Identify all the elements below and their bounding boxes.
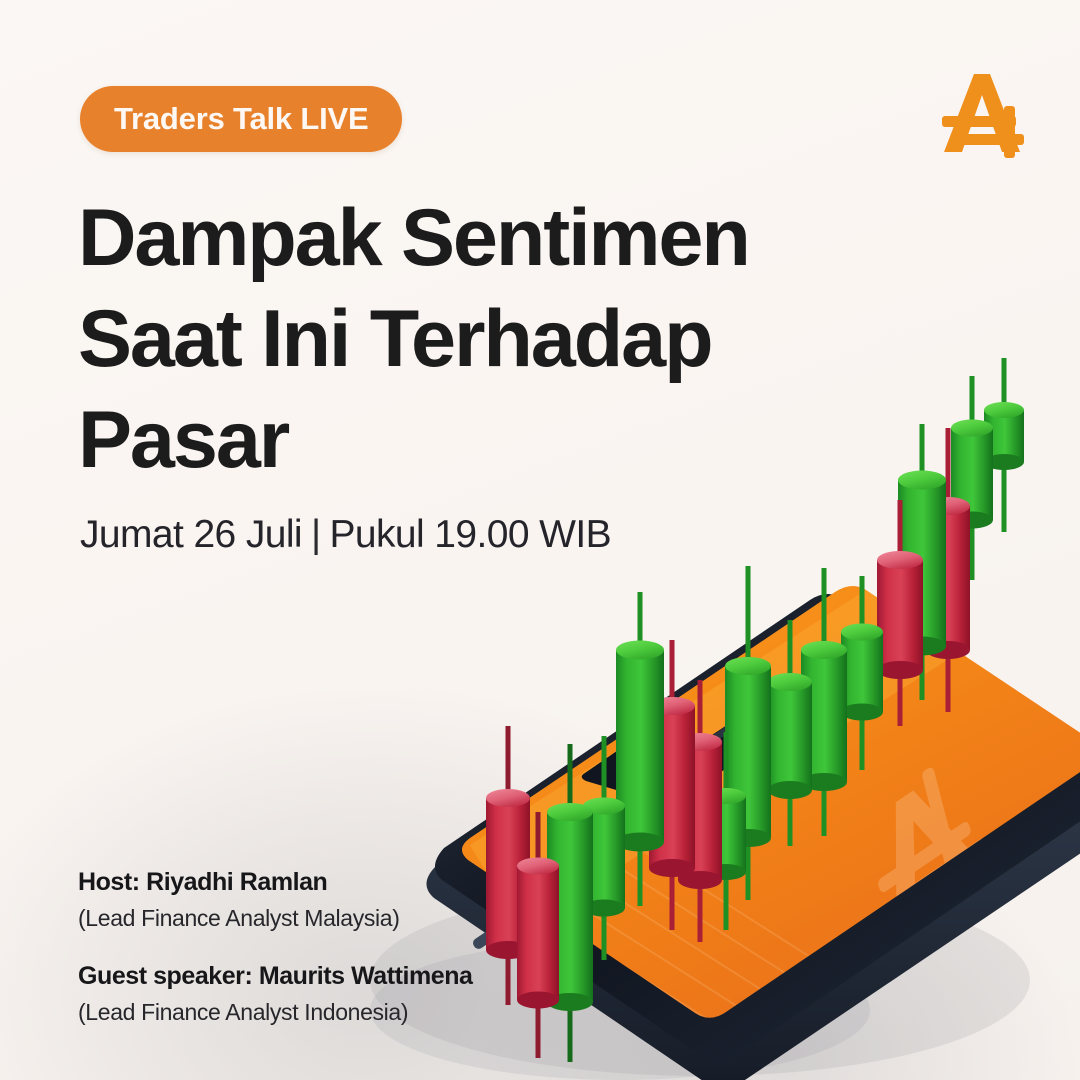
host-role: (Lead Finance Analyst Malaysia) [78, 902, 473, 935]
guest-role: (Lead Finance Analyst Indonesia) [78, 996, 473, 1029]
candle-bullish [547, 744, 593, 1062]
headline-line-3: Pasar [78, 390, 798, 491]
credit-guest: Guest speaker: Maurits Wattimena (Lead F… [78, 960, 473, 1028]
candle-bearish [517, 812, 559, 1058]
schedule-line: Jumat 26 Juli|Pukul 19.00 WIB [80, 513, 611, 557]
smartphone-device [426, 586, 1080, 1080]
live-badge: Traders Talk LIVE [80, 86, 402, 152]
speaker-credits: Host: Riyadhi Ramlan (Lead Finance Analy… [78, 866, 473, 1028]
candle-bullish [583, 736, 625, 960]
candle-bullish [725, 566, 771, 900]
live-badge-label: Traders Talk LIVE [114, 101, 368, 137]
candle-bullish [984, 358, 1024, 532]
candle-bullish [898, 424, 946, 700]
promo-poster: Traders Talk LIVE Dampak Sentimen Saat I… [0, 0, 1080, 1080]
credit-host: Host: Riyadhi Ramlan (Lead Finance Analy… [78, 866, 473, 934]
guest-name: Guest speaker: Maurits Wattimena [78, 960, 473, 993]
headline-line-2: Saat Ini Terhadap [78, 289, 798, 390]
candle-bullish [768, 620, 812, 846]
candle-bullish [706, 732, 746, 930]
schedule-date: Jumat 26 Juli [80, 513, 302, 556]
page-title: Dampak Sentimen Saat Ini Terhadap Pasar [78, 188, 798, 491]
candle-bearish [877, 500, 923, 726]
candle-bullish [951, 376, 993, 580]
candle-bullish [801, 568, 847, 836]
candle-bearish [678, 680, 722, 942]
headline-line-1: Dampak Sentimen [78, 188, 798, 289]
candle-bearish [926, 428, 970, 712]
schedule-time: Pukul 19.00 WIB [330, 513, 611, 556]
host-name: Host: Riyadhi Ramlan [78, 866, 473, 899]
candle-bullish [841, 576, 883, 770]
candle-bearish [486, 726, 530, 1005]
candle-bearish [649, 640, 695, 930]
brand-logo-icon [930, 62, 1034, 166]
schedule-separator: | [311, 513, 321, 557]
candle-bullish [616, 592, 664, 906]
